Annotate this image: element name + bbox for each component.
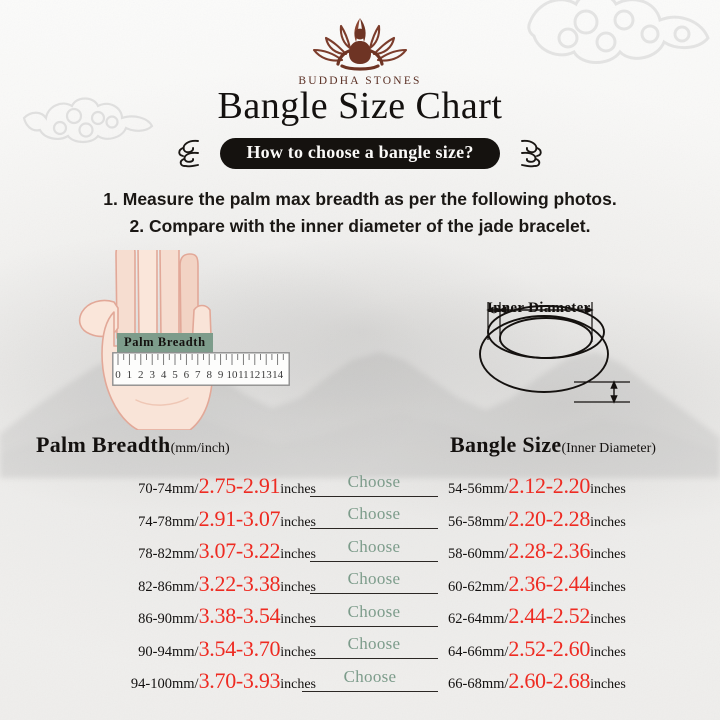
bangle-inch-value: 2.52-2.60 bbox=[508, 636, 590, 661]
palm-inch-value: 3.54-3.70 bbox=[199, 636, 281, 661]
palm-breadth-label: Palm Breadth bbox=[117, 333, 213, 353]
palm-breadth-header: Palm Breadth(mm/inch) bbox=[36, 432, 230, 458]
table-row: 90-94mm/3.54-3.70inchesChoose64-66mm/2.5… bbox=[0, 633, 720, 666]
bangle-unit-label: inches bbox=[590, 547, 626, 562]
bangle-unit-label: inches bbox=[590, 515, 626, 530]
palm-breadth-cell: 78-82mm/3.07-3.22inches bbox=[138, 538, 316, 564]
bangle-unit-label: inches bbox=[590, 677, 626, 692]
ruler-icon: 01234567891011121314 bbox=[112, 352, 290, 386]
ruler-tick-label: 9 bbox=[218, 369, 224, 381]
bangle-inch-value: 2.28-2.36 bbox=[508, 538, 590, 563]
row-connector-line bbox=[310, 561, 438, 562]
choose-link[interactable]: Choose bbox=[310, 569, 438, 589]
palm-breadth-cell: 82-86mm/3.22-3.38inches bbox=[138, 571, 316, 597]
bangle-mm-value: 60-62mm/ bbox=[448, 579, 508, 595]
instructions-block: 1. Measure the palm max breadth as per t… bbox=[0, 186, 720, 240]
how-to-banner: How to choose a bangle size? bbox=[220, 138, 499, 169]
banner-row: How to choose a bangle size? bbox=[0, 136, 720, 170]
bangle-size-cell: 66-68mm/2.60-2.68inches bbox=[448, 668, 626, 694]
ruler-tick-label: 6 bbox=[184, 369, 190, 381]
ruler-tick-label: 3 bbox=[149, 369, 155, 381]
table-row: 74-78mm/2.91-3.07inchesChoose56-58mm/2.2… bbox=[0, 503, 720, 536]
palm-mm-value: 70-74mm/ bbox=[138, 481, 198, 497]
choose-link[interactable]: Choose bbox=[310, 634, 438, 654]
bangle-unit-label: inches bbox=[590, 482, 626, 497]
palm-inch-value: 3.22-3.38 bbox=[199, 571, 281, 596]
bangle-size-header-main: Bangle Size bbox=[450, 432, 561, 457]
brand-logo: BUDDHA STONES bbox=[0, 12, 720, 87]
bangle-inch-value: 2.44-2.52 bbox=[508, 603, 590, 628]
instruction-line-2: 2. Compare with the inner diameter of th… bbox=[0, 213, 720, 240]
ruler-tick-label: 0 bbox=[115, 369, 121, 381]
bangle-size-header: Bangle Size(Inner Diameter) bbox=[450, 432, 656, 458]
palm-mm-value: 94-100mm/ bbox=[131, 676, 199, 692]
bangle-size-cell: 64-66mm/2.52-2.60inches bbox=[448, 636, 626, 662]
ruler-tick-label: 10 bbox=[227, 369, 239, 381]
bangle-inch-value: 2.36-2.44 bbox=[508, 571, 590, 596]
bangle-mm-value: 64-66mm/ bbox=[448, 644, 508, 660]
bangle-unit-label: inches bbox=[590, 612, 626, 627]
ruler-tick-label: 1 bbox=[127, 369, 132, 381]
swirl-flourish-icon bbox=[174, 136, 208, 170]
palm-mm-value: 86-90mm/ bbox=[138, 611, 198, 627]
row-connector-line bbox=[302, 691, 438, 692]
choose-link[interactable]: Choose bbox=[302, 667, 438, 687]
palm-inch-value: 2.75-2.91 bbox=[199, 473, 281, 498]
ruler-tick-label: 4 bbox=[161, 369, 167, 381]
palm-breadth-cell: 86-90mm/3.38-3.54inches bbox=[138, 603, 316, 629]
size-table: 70-74mm/2.75-2.91inchesChoose54-56mm/2.1… bbox=[0, 470, 720, 698]
bangle-size-cell: 54-56mm/2.12-2.20inches bbox=[448, 473, 626, 499]
palm-inch-value: 2.91-3.07 bbox=[199, 506, 281, 531]
palm-breadth-cell: 70-74mm/2.75-2.91inches bbox=[138, 473, 316, 499]
ruler-tick-label: 7 bbox=[195, 369, 201, 381]
palm-inch-value: 3.07-3.22 bbox=[199, 538, 281, 563]
bangle-size-cell: 60-62mm/2.36-2.44inches bbox=[448, 571, 626, 597]
ruler-tick-label: 13 bbox=[261, 369, 273, 381]
bangle-mm-value: 58-60mm/ bbox=[448, 546, 508, 562]
ruler-tick-label: 2 bbox=[138, 369, 144, 381]
row-connector-line bbox=[310, 658, 438, 659]
bangle-mm-value: 56-58mm/ bbox=[448, 514, 508, 530]
row-connector-line bbox=[310, 593, 438, 594]
table-row: 70-74mm/2.75-2.91inchesChoose54-56mm/2.1… bbox=[0, 470, 720, 503]
row-connector-line bbox=[310, 626, 438, 627]
bangle-size-cell: 62-64mm/2.44-2.52inches bbox=[448, 603, 626, 629]
ruler-tick-label: 11 bbox=[238, 369, 249, 381]
table-row: 78-82mm/3.07-3.22inchesChoose58-60mm/2.2… bbox=[0, 535, 720, 568]
bangle-size-cell: 56-58mm/2.20-2.28inches bbox=[448, 506, 626, 532]
palm-mm-value: 90-94mm/ bbox=[138, 644, 198, 660]
bangle-ring-icon bbox=[462, 296, 652, 412]
bangle-size-header-sub: (Inner Diameter) bbox=[561, 441, 655, 456]
instruction-line-1: 1. Measure the palm max breadth as per t… bbox=[0, 186, 720, 213]
palm-breadth-header-main: Palm Breadth bbox=[36, 432, 171, 457]
choose-link[interactable]: Choose bbox=[310, 537, 438, 557]
palm-inch-value: 3.70-3.93 bbox=[199, 668, 281, 693]
palm-inch-value: 3.38-3.54 bbox=[199, 603, 281, 628]
table-row: 82-86mm/3.22-3.38inchesChoose60-62mm/2.3… bbox=[0, 568, 720, 601]
palm-breadth-header-sub: (mm/inch) bbox=[171, 441, 230, 456]
palm-breadth-cell: 74-78mm/2.91-3.07inches bbox=[138, 506, 316, 532]
table-row: 86-90mm/3.38-3.54inchesChoose62-64mm/2.4… bbox=[0, 600, 720, 633]
row-connector-line bbox=[310, 528, 438, 529]
choose-link[interactable]: Choose bbox=[310, 472, 438, 492]
bangle-size-cell: 58-60mm/2.28-2.36inches bbox=[448, 538, 626, 564]
size-chart-page: BUDDHA STONES Bangle Size Chart How to c… bbox=[0, 0, 720, 720]
row-connector-line bbox=[310, 496, 438, 497]
page-title: Bangle Size Chart bbox=[0, 84, 720, 128]
ruler-tick-label: 5 bbox=[172, 369, 178, 381]
choose-link[interactable]: Choose bbox=[310, 504, 438, 524]
bangle-inch-value: 2.60-2.68 bbox=[508, 668, 590, 693]
bangle-mm-value: 62-64mm/ bbox=[448, 611, 508, 627]
ruler-tick-label: 14 bbox=[272, 369, 284, 381]
ruler-tick-label: 12 bbox=[249, 369, 260, 381]
bangle-inch-value: 2.12-2.20 bbox=[508, 473, 590, 498]
bangle-unit-label: inches bbox=[590, 580, 626, 595]
lotus-meditation-icon bbox=[308, 12, 412, 74]
palm-breadth-cell: 94-100mm/3.70-3.93inches bbox=[131, 668, 316, 694]
table-row: 94-100mm/3.70-3.93inchesChoose66-68mm/2.… bbox=[0, 665, 720, 698]
bangle-inch-value: 2.20-2.28 bbox=[508, 506, 590, 531]
bangle-mm-value: 54-56mm/ bbox=[448, 481, 508, 497]
palm-mm-value: 82-86mm/ bbox=[138, 579, 198, 595]
ruler-tick-label: 8 bbox=[206, 369, 212, 381]
palm-mm-value: 74-78mm/ bbox=[138, 514, 198, 530]
bangle-unit-label: inches bbox=[590, 645, 626, 660]
palm-mm-value: 78-82mm/ bbox=[138, 546, 198, 562]
swirl-flourish-icon bbox=[512, 136, 546, 170]
choose-link[interactable]: Choose bbox=[310, 602, 438, 622]
palm-breadth-cell: 90-94mm/3.54-3.70inches bbox=[138, 636, 316, 662]
bangle-mm-value: 66-68mm/ bbox=[448, 676, 508, 692]
